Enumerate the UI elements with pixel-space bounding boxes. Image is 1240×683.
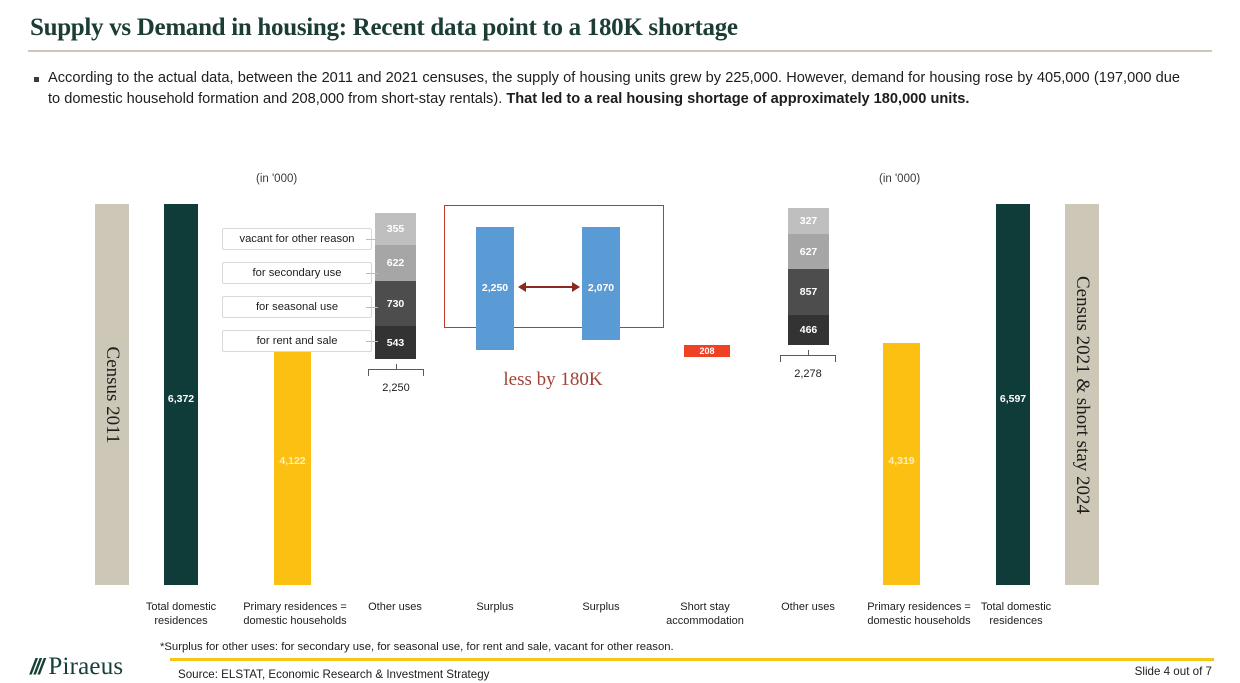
bracket-left xyxy=(368,364,424,378)
bar-primary-residences-2011: 4,122 xyxy=(274,347,311,585)
xaxis-label-line-1: Total domestic xyxy=(970,600,1062,614)
xaxis-label-line-1: Primary residences = xyxy=(856,600,982,614)
xaxis-label-primary-residences-right: Primary residences = domestic households xyxy=(856,600,982,628)
xaxis-label-total-domestic-residences-right: Total domestic residences xyxy=(970,600,1062,628)
callout-for-rent-and-sale: for rent and sale xyxy=(222,330,372,352)
callout-leader-4 xyxy=(366,341,378,342)
xaxis-label-line-1: Primary residences = xyxy=(232,600,358,614)
census-2021-band: Census 2021 & short stay 2024 xyxy=(1065,204,1099,585)
xaxis-label-short-stay: Short stay accommodation xyxy=(653,600,757,628)
callout-leader-1 xyxy=(366,239,378,240)
xaxis-label-total-domestic-residences-left: Total domestic residences xyxy=(135,600,227,628)
stack-seg-rent-and-sale-2021: 466 xyxy=(788,315,829,345)
bracket-right-value: 2,278 xyxy=(780,368,836,380)
stack-seg-rent-and-sale-2011: 543 xyxy=(375,326,416,359)
xaxis-label-surplus-right: Surplus xyxy=(556,600,646,614)
stack-seg-vacant-other-2011: 355 xyxy=(375,213,416,245)
logo-wordmark: Piraeus xyxy=(48,653,123,681)
unit-label-left: (in '000) xyxy=(256,173,297,185)
xaxis-label-line-2: domestic households xyxy=(232,614,358,628)
xaxis-label-line-1: Other uses xyxy=(762,600,854,614)
xaxis-label-primary-residences-left: Primary residences = domestic households xyxy=(232,600,358,628)
piraeus-logo: /// Piraeus xyxy=(30,653,123,681)
stack-seg-seasonal-use-2011: 730 xyxy=(375,281,416,326)
slide: Supply vs Demand in housing: Recent data… xyxy=(0,0,1240,683)
bar-value-6372: 6,372 xyxy=(164,393,198,405)
page-title: Supply vs Demand in housing: Recent data… xyxy=(30,14,1210,42)
callout-for-seasonal-use: for seasonal use xyxy=(222,296,372,318)
bar-value-6597: 6,597 xyxy=(996,393,1030,405)
difference-arrow-head-left-icon xyxy=(518,282,526,292)
chip-short-stay-208: 208 xyxy=(684,345,730,357)
stack-seg-secondary-use-2011: 622 xyxy=(375,245,416,281)
bar-value-4319: 4,319 xyxy=(883,455,920,467)
source-note: Source: ELSTAT, Economic Research & Inve… xyxy=(178,668,489,681)
bullet-paragraph: According to the actual data, between th… xyxy=(34,68,1184,111)
bar-value-2250: 2,250 xyxy=(476,282,514,294)
xaxis-label-line-2: residences xyxy=(970,614,1062,628)
footer-divider xyxy=(170,658,1214,661)
difference-arrow-line xyxy=(525,286,573,288)
bullet-text-bold: That led to a real housing shortage of a… xyxy=(506,91,969,107)
xaxis-label-surplus-left: Surplus xyxy=(450,600,540,614)
stack-seg-vacant-other-2021: 327 xyxy=(788,208,829,234)
xaxis-label-line-1: Surplus xyxy=(556,600,646,614)
bar-surplus-2021: 2,070 xyxy=(582,227,620,340)
bar-total-domestic-residences-2011: 6,372 xyxy=(164,204,198,585)
callout-vacant-for-other-reason: vacant for other reason xyxy=(222,228,372,250)
less-by-annotation: less by 180K xyxy=(444,369,662,391)
difference-arrow-head-right-icon xyxy=(572,282,580,292)
stack-seg-seasonal-use-2021: 857 xyxy=(788,269,829,315)
callout-for-secondary-use: for secondary use xyxy=(222,262,372,284)
census-2021-band-label: Census 2021 & short stay 2024 xyxy=(1071,275,1093,513)
xaxis-label-line-2: domestic households xyxy=(856,614,982,628)
bullet-marker-icon xyxy=(34,77,48,111)
census-2011-band-label: Census 2011 xyxy=(101,346,123,443)
unit-label-right: (in '000) xyxy=(879,173,920,185)
bracket-left-value: 2,250 xyxy=(368,382,424,394)
title-divider xyxy=(28,50,1212,52)
bar-primary-residences-2021: 4,319 xyxy=(883,343,920,585)
xaxis-label-line-1: Other uses xyxy=(348,600,442,614)
stack-seg-secondary-use-2021: 627 xyxy=(788,234,829,269)
xaxis-label-line-2: residences xyxy=(135,614,227,628)
bullet-text: According to the actual data, between th… xyxy=(48,68,1180,111)
callout-leader-2 xyxy=(366,273,378,274)
xaxis-label-line-1: Surplus xyxy=(450,600,540,614)
xaxis-label-line-1: Short stay xyxy=(653,600,757,614)
chart-area: (in '000) (in '000) Census 2011 6,372 4,… xyxy=(0,160,1240,640)
bar-value-4122: 4,122 xyxy=(274,455,311,467)
callout-leader-3 xyxy=(366,307,378,308)
census-2011-band: Census 2011 xyxy=(95,204,129,585)
bar-surplus-2011: 2,250 xyxy=(476,227,514,350)
xaxis-label-line-2: accommodation xyxy=(653,614,757,628)
chart-footnote: *Surplus for other uses: for secondary u… xyxy=(160,641,1060,653)
xaxis-label-other-uses-right: Other uses xyxy=(762,600,854,614)
logo-slashes-icon: /// xyxy=(30,654,42,680)
xaxis-label-other-uses-left: Other uses xyxy=(348,600,442,614)
xaxis-label-line-1: Total domestic xyxy=(135,600,227,614)
slide-number: Slide 4 out of 7 xyxy=(1135,665,1212,678)
bracket-right xyxy=(780,350,836,364)
bar-total-domestic-residences-2021: 6,597 xyxy=(996,204,1030,585)
bar-value-2070: 2,070 xyxy=(582,282,620,294)
